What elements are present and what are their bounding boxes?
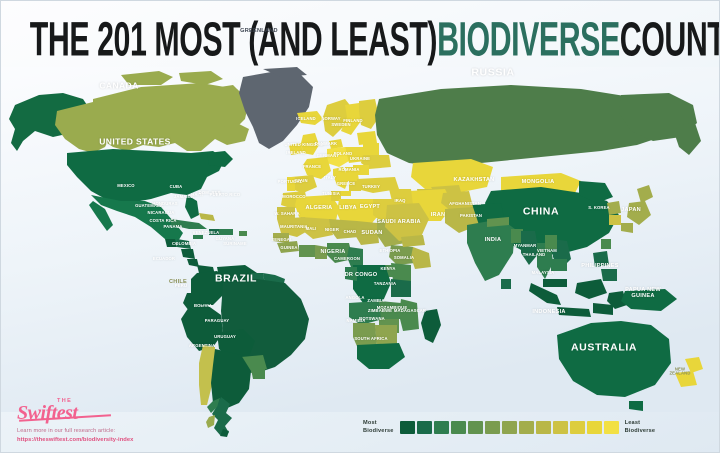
country-portugal xyxy=(287,177,295,191)
country-western-sahara xyxy=(277,207,295,219)
country-mozambique xyxy=(399,299,419,331)
country-cambodia xyxy=(551,259,567,271)
country-ghana xyxy=(315,245,327,259)
country-laos xyxy=(545,235,557,249)
legend-swatches xyxy=(400,421,619,434)
brand-wordmark: Swiftest xyxy=(17,402,77,425)
country-north-korea xyxy=(607,201,621,215)
country-gabon xyxy=(345,267,357,281)
brand-leaf-icon xyxy=(201,395,235,442)
legend-swatch-11 xyxy=(570,421,585,434)
country-yemen xyxy=(401,235,425,247)
country-uruguay xyxy=(251,369,265,379)
country-philippines-n xyxy=(593,251,609,267)
legend-swatch-9 xyxy=(536,421,551,434)
country-balkans xyxy=(345,167,359,181)
country-kenya xyxy=(391,263,411,281)
country-italy-sicily xyxy=(341,191,351,196)
country-dominican-republic xyxy=(219,229,233,235)
country-jamaica xyxy=(193,235,203,239)
country-malaysia xyxy=(543,279,567,287)
country-philippines-s xyxy=(601,269,617,281)
legend-most-line2: Biodiverse xyxy=(363,428,394,436)
legend-swatch-4 xyxy=(451,421,466,434)
world-map[interactable]: CANADAUNITED STATESGREENLANDMEXICOCUBAGU… xyxy=(1,67,720,412)
legend-swatch-1 xyxy=(400,421,415,434)
legend-least-line2: Biodiverse xyxy=(625,428,656,436)
world-map-svg xyxy=(1,67,720,412)
country-sri-lanka xyxy=(501,279,511,289)
legend-swatch-8 xyxy=(519,421,534,434)
brand-tagline: Learn more in our full research article: xyxy=(17,428,115,434)
leaf-icon-svg xyxy=(201,395,235,437)
legend-swatch-3 xyxy=(434,421,449,434)
country-south-korea xyxy=(609,215,621,225)
country-taiwan xyxy=(601,239,611,249)
brand-url-link[interactable]: https://theswiftest.com/biodiversity-ind… xyxy=(17,437,133,443)
country-haiti xyxy=(209,229,219,235)
country-guatemala xyxy=(165,239,177,247)
legend-swatch-13 xyxy=(604,421,619,434)
legend-least-line1: Least xyxy=(625,420,656,428)
page-title-highlight: BIODIVERSE xyxy=(437,15,620,63)
country-guinea xyxy=(277,241,299,253)
page-title: THE 201 MOST (AND LEAST) BIODIVERSE COUN… xyxy=(30,15,692,48)
legend-most-line1: Most xyxy=(363,420,394,428)
page-title-part2: COUNTRIES IN 2022 xyxy=(620,15,720,63)
country-ireland xyxy=(289,143,303,155)
country-baltics xyxy=(357,131,377,145)
legend-least-caption: Least Biodiverse xyxy=(625,420,656,435)
legend-swatch-2 xyxy=(417,421,432,434)
country-indonesia-other xyxy=(593,303,613,315)
legend: Most Biodiverse Least Biodiverse xyxy=(363,420,655,435)
country-puerto-rico xyxy=(239,231,247,236)
legend-swatch-7 xyxy=(502,421,517,434)
legend-swatch-12 xyxy=(587,421,602,434)
infographic-canvas: THE 201 MOST (AND LEAST) BIODIVERSE COUN… xyxy=(0,0,720,453)
country-ivory-coast xyxy=(299,245,315,257)
legend-swatch-6 xyxy=(485,421,500,434)
legend-swatch-10 xyxy=(553,421,568,434)
legend-swatch-5 xyxy=(468,421,483,434)
country-belarus xyxy=(363,143,379,155)
country-iraq xyxy=(389,189,413,205)
country-zambia xyxy=(379,301,401,319)
page-title-part1: THE 201 MOST (AND LEAST) xyxy=(30,15,437,63)
legend-most-caption: Most Biodiverse xyxy=(363,420,394,435)
country-tanzania xyxy=(391,279,411,297)
